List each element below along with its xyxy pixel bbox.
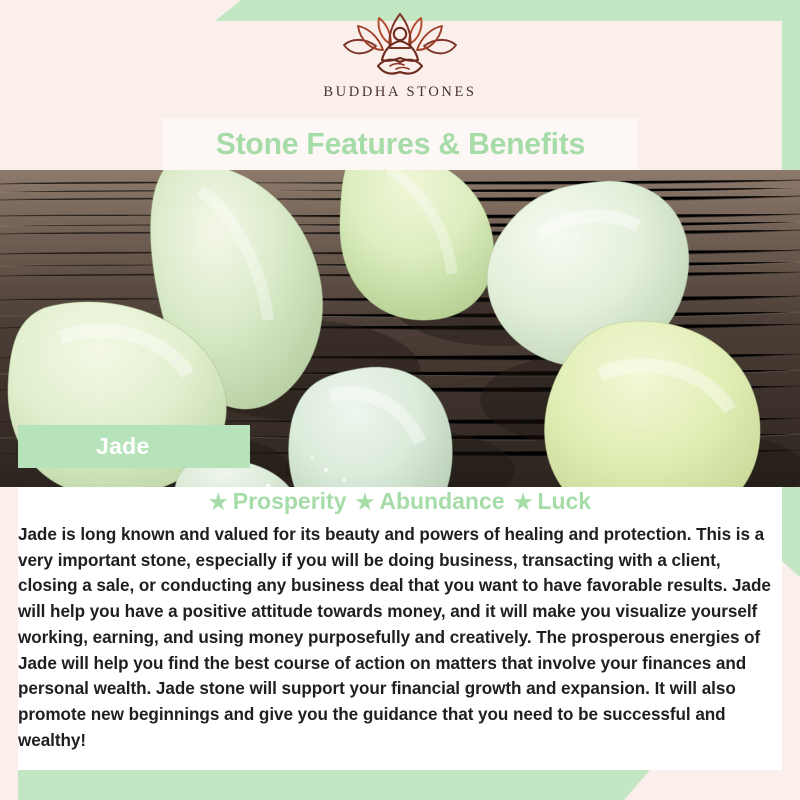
star-icon: ★ xyxy=(209,492,228,513)
benefit-item-luck: ★ Luck xyxy=(514,488,592,515)
title-band: Stone Features & Benefits xyxy=(162,118,638,170)
brand-name: BUDDHA STONES xyxy=(323,84,476,101)
star-icon: ★ xyxy=(356,492,375,513)
benefit-label: Abundance xyxy=(379,488,504,515)
page-title: Stone Features & Benefits xyxy=(215,126,584,162)
lotus-meditation-icon xyxy=(334,12,466,78)
benefits-list: ★ Prosperity ★ Abundance ★ Luck xyxy=(18,485,782,518)
benefit-item-abundance: ★ Abundance xyxy=(356,488,505,515)
benefit-label: Luck xyxy=(537,488,591,515)
content-panel: ★ Prosperity ★ Abundance ★ Luck Jade is … xyxy=(18,487,782,770)
benefit-label: Prosperity xyxy=(233,488,347,515)
stone-name-badge: Jade xyxy=(18,425,250,468)
star-icon: ★ xyxy=(514,492,533,513)
brand-header: BUDDHA STONES xyxy=(0,0,800,118)
stone-description: Jade is long known and valued for its be… xyxy=(18,518,778,753)
benefit-item-prosperity: ★ Prosperity xyxy=(209,488,347,515)
stone-name-label: Jade xyxy=(96,433,150,460)
stone-benefits-infographic: { "brand": { "name": "BUDDHA STONES", "l… xyxy=(0,0,800,800)
decor-band-bottom xyxy=(18,770,650,800)
